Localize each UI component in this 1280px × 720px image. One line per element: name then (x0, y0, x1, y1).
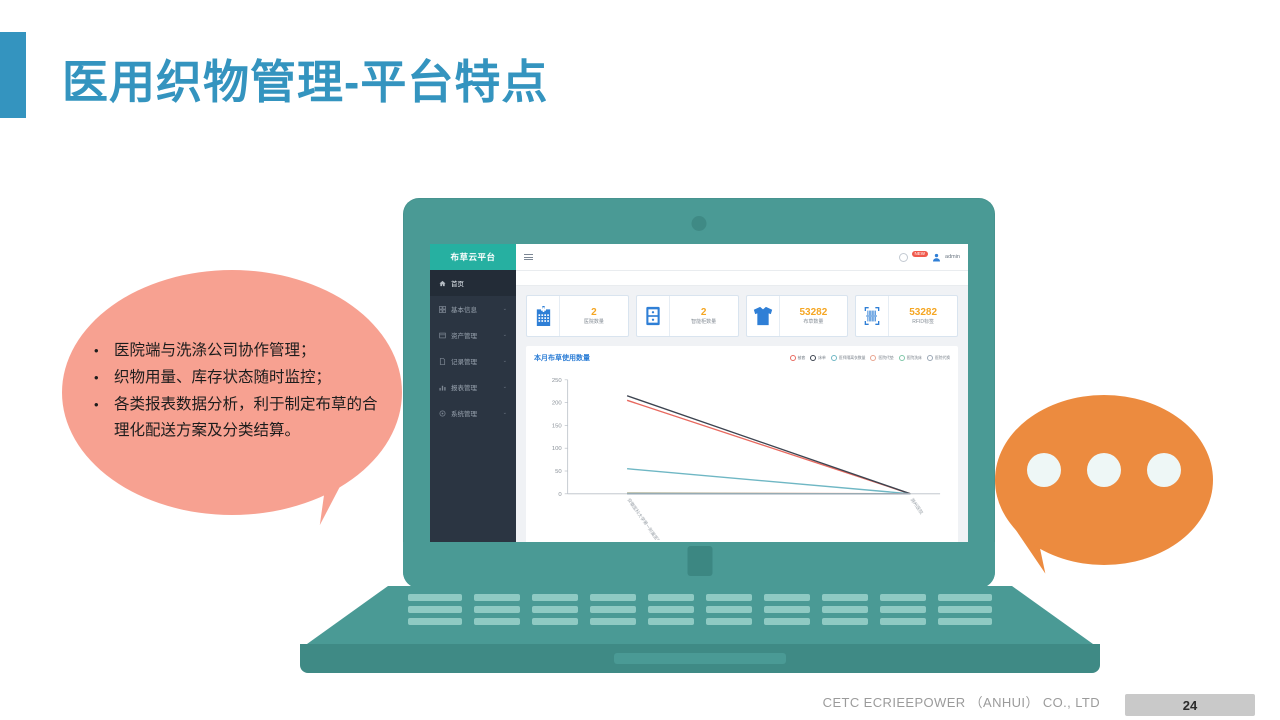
keyboard-key (590, 606, 636, 613)
keyboard-key (474, 618, 520, 625)
bullet-icon: • (94, 365, 102, 391)
key-row (300, 618, 1100, 625)
legend-marker-icon (899, 355, 905, 361)
sidebar-item-label: 系统管理 (451, 408, 477, 418)
bullet-text: 织物用量、库存状态随时监控； (114, 365, 384, 391)
laptop-screen: 布草云平台 首页 基本信息 ⌄ (430, 244, 968, 544)
keyboard-key (474, 594, 520, 601)
chart-icon (439, 384, 446, 391)
barcode-icon (856, 296, 889, 336)
stat-card-body: 2 智能柜数量 (670, 296, 738, 336)
file-icon (439, 358, 446, 365)
svg-text:200: 200 (552, 401, 563, 407)
svg-text:50: 50 (555, 469, 562, 475)
keyboard-key (532, 606, 578, 613)
svg-text:滁州医院: 滁州医院 (909, 497, 925, 516)
chart-svg: 050100150200250 安徽医科大学第一附属医院(绿地城院区)滁州医院 (534, 368, 950, 540)
sidebar-item-basic-info[interactable]: 基本信息 ⌄ (430, 296, 516, 322)
sidebar-item-asset[interactable]: 资产管理 ⌄ (430, 322, 516, 348)
legend-marker-icon (810, 355, 816, 361)
chart-title: 本月布草使用数量 (534, 353, 590, 363)
legend-label: 医师隔离衣数量 (839, 356, 866, 361)
keyboard-key (706, 618, 752, 625)
app-brand: 布草云平台 (430, 244, 516, 270)
key-row (300, 594, 1100, 601)
hamburger-icon[interactable] (524, 254, 533, 260)
stat-value: 53282 (909, 308, 937, 318)
keyboard-key (938, 618, 992, 625)
stat-card-cabinet[interactable]: 2 智能柜数量 (636, 295, 739, 337)
home-icon (439, 280, 446, 287)
keyboard-key (764, 606, 810, 613)
legend-item[interactable]: 被套 (790, 355, 806, 361)
legend-marker-icon (790, 355, 796, 361)
orange-speech-bubble (995, 395, 1213, 565)
chart-x-tick-labels: 安徽医科大学第一附属医院(绿地城院区)滁州医院 (625, 497, 925, 540)
chart-y-tick-labels: 050100150200250 (552, 378, 563, 498)
keyboard-key (706, 594, 752, 601)
sidebar-item-record[interactable]: 记录管理 ⌄ (430, 348, 516, 374)
legend-marker-icon (831, 355, 837, 361)
keyboard-key (822, 606, 868, 613)
legend-label: 医院代换 (935, 356, 950, 361)
keyboard-key (648, 606, 694, 613)
page-number-box: 24 (1125, 694, 1255, 716)
typing-dots (995, 453, 1213, 487)
svg-text:0: 0 (558, 492, 562, 498)
legend-marker-icon (927, 355, 933, 361)
laptop-mockup: 布草云平台 首页 基本信息 ⌄ (300, 198, 1100, 673)
sidebar-item-home[interactable]: 首页 (430, 270, 516, 296)
list-item: • 织物用量、库存状态随时监控； (94, 365, 384, 391)
chevron-down-icon: ⌄ (503, 384, 507, 390)
chart-line (627, 396, 910, 494)
legend-item[interactable]: 床单 (810, 355, 826, 361)
page-title: 医用织物管理-平台特点 (62, 46, 548, 112)
laptop-trackpad (614, 653, 786, 664)
user-avatar-icon[interactable] (932, 253, 941, 262)
notification-badge: NEW (912, 251, 929, 258)
stat-label: 布草数量 (803, 320, 823, 325)
chart-panel-header: 本月布草使用数量 被套 床单 (534, 353, 950, 363)
keyboard-key (938, 594, 992, 601)
stat-card-body: 53282 RFID标签 (889, 296, 957, 336)
legend-label: 医院洗床 (907, 356, 922, 361)
chart-legend: 被套 床单 医师隔离衣数量 (790, 355, 950, 361)
gear-icon (439, 410, 446, 417)
keyboard-key (764, 594, 810, 601)
dot-icon (1087, 453, 1121, 487)
chevron-down-icon: ⌄ (503, 332, 507, 338)
bullet-text: 各类报表数据分析，利于制定布草的合理化配送方案及分类结算。 (114, 392, 384, 444)
svg-text:250: 250 (552, 378, 563, 384)
svg-text:安徽医科大学第一附属医院(绿地城院区): 安徽医科大学第一附属医院(绿地城院区) (625, 497, 677, 540)
sidebar-item-report[interactable]: 报表管理 ⌄ (430, 374, 516, 400)
list-item: • 各类报表数据分析，利于制定布草的合理化配送方案及分类结算。 (94, 392, 384, 444)
keyboard-key (938, 606, 992, 613)
keyboard-key (590, 594, 636, 601)
shirt-icon (747, 296, 780, 336)
laptop-lid: 布草云平台 首页 基本信息 ⌄ (403, 198, 995, 588)
key-row (300, 606, 1100, 613)
grid-icon (439, 306, 446, 313)
keyboard-key (474, 606, 520, 613)
laptop-keyboard (300, 586, 1100, 644)
sidebar-item-label: 记录管理 (451, 356, 477, 366)
stat-card-hospital[interactable]: 2 医院数量 (526, 295, 629, 337)
app-content: NEW admin (516, 244, 968, 544)
dot-icon (1027, 453, 1061, 487)
chevron-down-icon: ⌄ (503, 306, 507, 312)
keyboard-key (764, 618, 810, 625)
list-item: • 医院端与洗涤公司协作管理； (94, 338, 384, 364)
keyboard-key (822, 618, 868, 625)
breadcrumb (516, 271, 968, 286)
chart-panel: 本月布草使用数量 被套 床单 (526, 346, 958, 544)
stat-card-row: 2 医院数量 (516, 286, 968, 337)
bullet-icon: • (94, 392, 102, 444)
chevron-down-icon: ⌄ (503, 410, 507, 416)
sidebar-item-label: 报表管理 (451, 382, 477, 392)
sidebar-item-label: 基本信息 (451, 304, 477, 314)
stat-card-linen[interactable]: 53282 布草数量 (746, 295, 849, 337)
username-label: admin (945, 254, 960, 260)
legend-marker-icon (870, 355, 876, 361)
stat-card-rfid[interactable]: 53282 RFID标签 (855, 295, 958, 337)
stat-label: RFID标签 (912, 320, 934, 325)
keyboard-key (532, 618, 578, 625)
keyboard-key (880, 594, 926, 601)
company-label: CETC ECRIEEPOWER （ANHUI） CO., LTD (823, 692, 1100, 711)
stat-card-body: 2 医院数量 (560, 296, 628, 336)
chart-line (627, 469, 910, 494)
app-sidebar: 布草云平台 首页 基本信息 ⌄ (430, 244, 516, 544)
topbar-right-group: NEW admin (899, 253, 960, 262)
keyboard-key (590, 618, 636, 625)
slide-canvas: 医用织物管理-平台特点 布草云平台 首页 (0, 0, 1280, 720)
sidebar-item-label: 资产管理 (451, 330, 477, 340)
pink-speech-bubble: • 医院端与洗涤公司协作管理； • 织物用量、库存状态随时监控； • 各类报表数… (62, 270, 402, 515)
legend-item[interactable]: 医院洗床 (899, 355, 922, 361)
keyboard-key (408, 606, 462, 613)
keyboard-key (648, 618, 694, 625)
stat-label: 医院数量 (584, 320, 604, 325)
keyboard-key (822, 594, 868, 601)
slide-footer: CETC ECRIEEPOWER （ANHUI） CO., LTD 24 (0, 686, 1280, 720)
keyboard-key (408, 594, 462, 601)
line-chart: 050100150200250 安徽医科大学第一附属医院(绿地城院区)滁州医院 (534, 368, 950, 540)
stat-label: 智能柜数量 (691, 320, 716, 325)
svg-text:150: 150 (552, 423, 563, 429)
legend-label: 被套 (798, 356, 806, 361)
stat-card-body: 53282 布草数量 (780, 296, 848, 336)
sidebar-item-label: 首页 (451, 278, 464, 288)
keyboard-key (706, 606, 752, 613)
keyboard-key (408, 618, 462, 625)
chart-series-group (627, 396, 910, 494)
hospital-icon (527, 296, 560, 336)
legend-label: 床单 (818, 356, 826, 361)
title-accent-bar (0, 32, 26, 118)
sidebar-item-system[interactable]: 系统管理 ⌄ (430, 400, 516, 426)
legend-item[interactable]: 医院代换 (927, 355, 950, 361)
legend-item[interactable]: 医院代垫 (870, 355, 893, 361)
chevron-down-icon: ⌄ (503, 358, 507, 364)
app-topbar: NEW admin (516, 244, 968, 271)
page-number: 24 (1183, 698, 1197, 713)
bell-icon[interactable] (899, 253, 908, 262)
legend-item[interactable]: 医师隔离衣数量 (831, 355, 866, 361)
laptop-hinge-nub (688, 546, 713, 576)
keyboard-key (880, 606, 926, 613)
feature-bullet-list: • 医院端与洗涤公司协作管理； • 织物用量、库存状态随时监控； • 各类报表数… (94, 338, 384, 445)
box-icon (439, 332, 446, 339)
svg-text:100: 100 (552, 446, 563, 452)
bullet-text: 医院端与洗涤公司协作管理； (114, 338, 384, 364)
webcam-icon (692, 216, 707, 231)
stat-value: 53282 (799, 308, 827, 318)
legend-label: 医院代垫 (878, 356, 893, 361)
keyboard-key (648, 594, 694, 601)
dot-icon (1147, 453, 1181, 487)
stat-value: 2 (591, 308, 597, 318)
bullet-icon: • (94, 338, 102, 364)
keyboard-key (880, 618, 926, 625)
keyboard-key (532, 594, 578, 601)
chart-y-axis (565, 380, 568, 494)
stat-value: 2 (701, 308, 707, 318)
app-window: 布草云平台 首页 基本信息 ⌄ (430, 244, 968, 544)
cabinet-icon (637, 296, 670, 336)
